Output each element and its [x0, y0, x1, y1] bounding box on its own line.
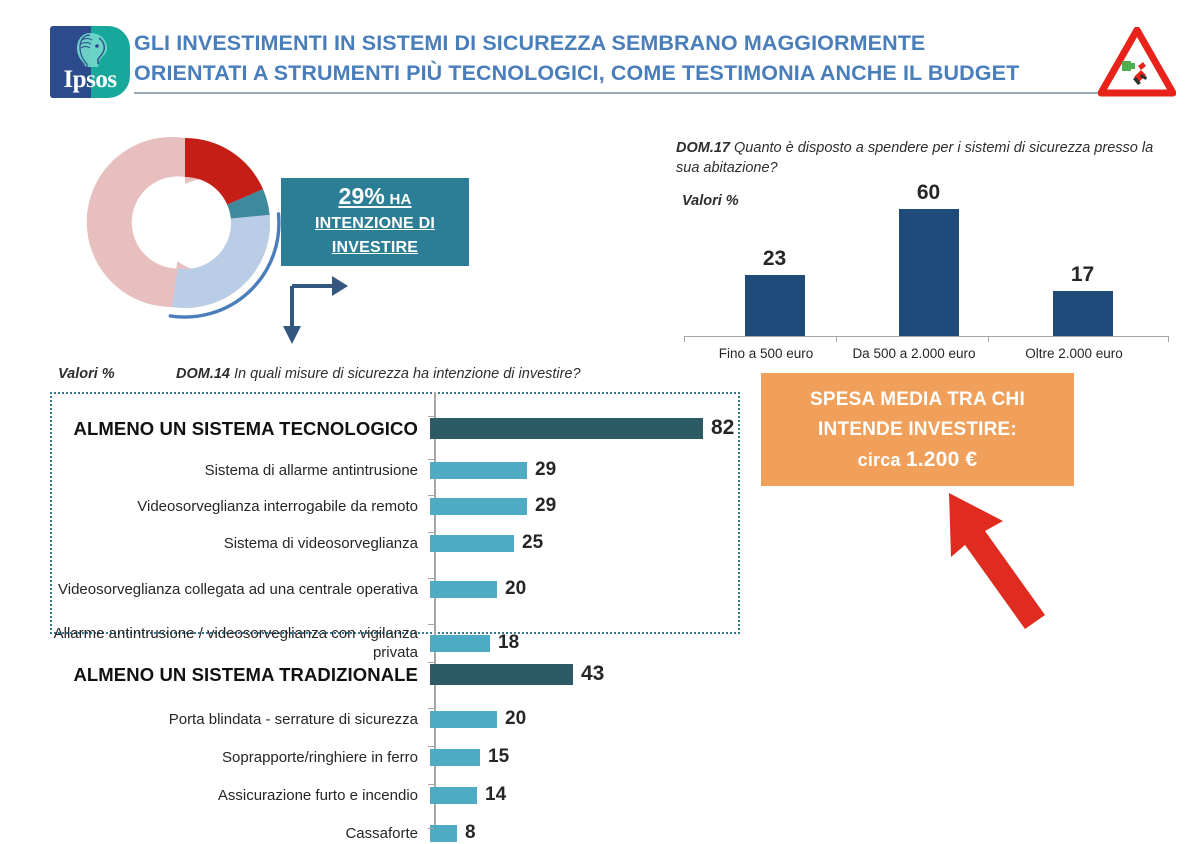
dom14-axis-tick-6	[428, 662, 434, 663]
v-bar-value-2: 17	[1010, 263, 1155, 287]
h-value-tech-3: 25	[522, 532, 543, 554]
investment-intention-callout: 29% HA INTENZIONE DI INVESTIRE	[281, 178, 469, 266]
h-bar-wrap-tech-1: 29	[430, 459, 750, 481]
h-bar-wrap-trad-1: 20	[430, 708, 750, 730]
table-row: Porta blindata - serrature di sicurezza …	[50, 708, 750, 730]
h-label-tech-3: Sistema di videosorveglianza	[50, 534, 430, 553]
dom17-question: DOM.17 Quanto è disposto a spendere per …	[676, 138, 1166, 178]
h-bar-trad-4	[430, 825, 457, 842]
callout-suffix: HA	[389, 191, 411, 208]
table-row: Sistema di allarme antintrusione 29	[50, 459, 750, 481]
h-bar-wrap-tech-4: 20	[430, 578, 750, 600]
v-bar-value-0: 23	[702, 247, 847, 271]
h-bar-wrap-tech-summary: 82	[430, 416, 750, 440]
h-bar-tech-5	[430, 635, 490, 652]
dom14-axis-tick-4	[428, 578, 434, 579]
h-value-trad-1: 20	[505, 708, 526, 730]
table-row: Cassaforte 8	[50, 822, 750, 844]
callout-value: 29%	[338, 183, 385, 209]
donut-slice-pink	[87, 137, 185, 307]
h-bar-trad-2	[430, 749, 480, 766]
h-label-trad-2: Soprapporte/ringhiere in ferro	[50, 748, 430, 767]
h-value-trad-4: 8	[465, 822, 476, 844]
table-row: Videosorveglianza interrogabile da remot…	[50, 495, 750, 517]
dom14-chart-section: Valori % DOM.14 In quali misure di sicur…	[50, 366, 750, 831]
h-value-trad-3: 14	[485, 784, 506, 806]
dom17-axis-tick-2	[988, 336, 989, 342]
h-label-tech-5: Allarme antintrusione / videosorveglianz…	[50, 624, 430, 662]
v-bar-col-0: 23	[702, 247, 847, 336]
dom14-axis-tick-9	[428, 784, 434, 785]
dom14-axis-tick-10	[428, 828, 434, 829]
average-spend-callout: SPESA MEDIA TRA CHI INTENDE INVESTIRE: c…	[761, 373, 1074, 486]
dom14-axis-tick-3	[428, 532, 434, 533]
logo-face-icon	[68, 31, 112, 69]
dom14-question: DOM.14 In quali misure di sicurezza ha i…	[176, 366, 581, 382]
h-bar-wrap-tech-2: 29	[430, 495, 750, 517]
h-label-tech-1: Sistema di allarme antintrusione	[50, 461, 430, 480]
dom14-axis-tick-0	[428, 416, 434, 417]
orange-callout-prefix: circa	[858, 450, 901, 470]
h-value-tech-4: 20	[505, 578, 526, 600]
orange-callout-line-2: INTENDE INVESTIRE:	[818, 415, 1017, 445]
v-bar-0	[745, 275, 805, 336]
h-bar-trad-3	[430, 787, 477, 804]
callout-line-2: INTENZIONE DI	[315, 212, 435, 236]
dom14-valori-label: Valori %	[58, 366, 115, 382]
h-value-tech-5: 18	[498, 632, 519, 654]
h-bar-tech-4	[430, 581, 497, 598]
red-arrow-icon	[945, 487, 1080, 632]
h-value-tech-1: 29	[535, 459, 556, 481]
title-divider	[134, 92, 1102, 94]
dom17-category-label-1: Da 500 a 2.000 euro	[834, 346, 994, 361]
v-bar-col-1: 60	[856, 181, 1001, 336]
burglary-warning-triangle-icon	[1098, 27, 1176, 97]
h-bar-wrap-trad-3: 14	[430, 784, 750, 806]
page-title-line-1: GLI INVESTIMENTI IN SISTEMI DI SICUREZZA…	[134, 28, 1094, 58]
dom17-x-axis	[684, 336, 1169, 337]
h-bar-tech-1	[430, 462, 527, 479]
h-bar-tech-summary	[430, 418, 703, 439]
donut-slice-light-blue	[172, 215, 270, 308]
dom17-question-prefix: DOM.17	[676, 140, 730, 156]
dom17-plot-area: 23 60 17	[684, 176, 1169, 336]
table-row: Videosorveglianza collegata ad una centr…	[50, 578, 750, 600]
h-value-trad-summary: 43	[581, 662, 604, 686]
page-title: GLI INVESTIMENTI IN SISTEMI DI SICUREZZA…	[134, 28, 1094, 88]
callout-line-1: 29% HA	[338, 184, 411, 212]
h-value-tech-summary: 82	[711, 416, 734, 440]
h-bar-tech-2	[430, 498, 527, 515]
table-row: ALMENO UN SISTEMA TRADIZIONALE 43	[50, 662, 750, 686]
table-row: Soprapporte/ringhiere in ferro 15	[50, 746, 750, 768]
dom14-axis-tick-8	[428, 746, 434, 747]
h-value-tech-2: 29	[535, 495, 556, 517]
h-label-tech-summary: ALMENO UN SISTEMA TECNOLOGICO	[50, 419, 430, 438]
v-bar-col-2: 17	[1010, 263, 1155, 336]
h-bar-trad-1	[430, 711, 497, 728]
h-label-tech-4: Videosorveglianza collegata ad una centr…	[50, 580, 430, 599]
table-row: Allarme antintrusione / videosorveglianz…	[50, 624, 750, 662]
orange-callout-line-1: SPESA MEDIA TRA CHI	[810, 385, 1025, 415]
h-bar-wrap-tech-5: 18	[430, 632, 750, 654]
logo-wordmark: Ipsos	[50, 66, 130, 94]
v-bar-value-1: 60	[856, 181, 1001, 205]
dom14-question-text: In quali misure di sicurezza ha intenzio…	[234, 366, 581, 382]
page-header: Ipsos GLI INVESTIMENTI IN SISTEMI DI SIC…	[50, 26, 1150, 104]
dom14-axis-tick-5	[428, 624, 434, 625]
dom17-axis-tick-3	[1168, 336, 1169, 342]
h-bar-trad-summary	[430, 664, 573, 685]
dom17-axis-tick-0	[684, 336, 685, 342]
dom17-question-text: Quanto è disposto a spendere per i siste…	[676, 140, 1153, 176]
h-bar-wrap-trad-summary: 43	[430, 662, 750, 686]
page-title-line-2: ORIENTATI A STRUMENTI PIÙ TECNOLOGICI, C…	[134, 58, 1094, 88]
dom14-plot-area: ALMENO UN SISTEMA TECNOLOGICO 82 Sistema…	[50, 392, 750, 832]
dom17-chart-section: DOM.17 Quanto è disposto a spendere per …	[676, 138, 1176, 368]
dom17-category-label-0: Fino a 500 euro	[686, 346, 846, 361]
orange-callout-line-3: circa 1.200 €	[858, 445, 978, 475]
h-bar-wrap-trad-2: 15	[430, 746, 750, 768]
h-label-trad-1: Porta blindata - serrature di sicurezza	[50, 710, 430, 729]
dom17-category-label-2: Oltre 2.000 euro	[994, 346, 1154, 361]
v-bar-1	[899, 209, 959, 336]
dom14-axis-tick-2	[428, 495, 434, 496]
v-bar-2	[1053, 291, 1113, 336]
dom14-axis-tick-1	[428, 459, 434, 460]
h-bar-wrap-trad-4: 8	[430, 822, 750, 844]
table-row: Sistema di videosorveglianza 25	[50, 532, 750, 554]
ipsos-logo: Ipsos	[50, 26, 130, 98]
h-label-tech-2: Videosorveglianza interrogabile da remot…	[50, 497, 430, 516]
table-row: Assicurazione furto e incendio 14	[50, 784, 750, 806]
h-value-trad-2: 15	[488, 746, 509, 768]
callout-line-3: INVESTIRE	[332, 236, 418, 260]
orange-callout-amount: 1.200 €	[906, 448, 977, 471]
h-label-trad-3: Assicurazione furto e incendio	[50, 786, 430, 805]
h-bar-wrap-tech-3: 25	[430, 532, 750, 554]
table-row: ALMENO UN SISTEMA TECNOLOGICO 82	[50, 416, 750, 440]
dom14-question-prefix: DOM.14	[176, 366, 230, 382]
h-label-trad-4: Cassaforte	[50, 824, 430, 843]
elbow-arrow-icon	[282, 268, 352, 348]
dom14-axis-tick-7	[428, 708, 434, 709]
h-label-trad-summary: ALMENO UN SISTEMA TRADIZIONALE	[50, 665, 430, 684]
h-bar-tech-3	[430, 535, 514, 552]
dom17-axis-tick-1	[836, 336, 837, 342]
